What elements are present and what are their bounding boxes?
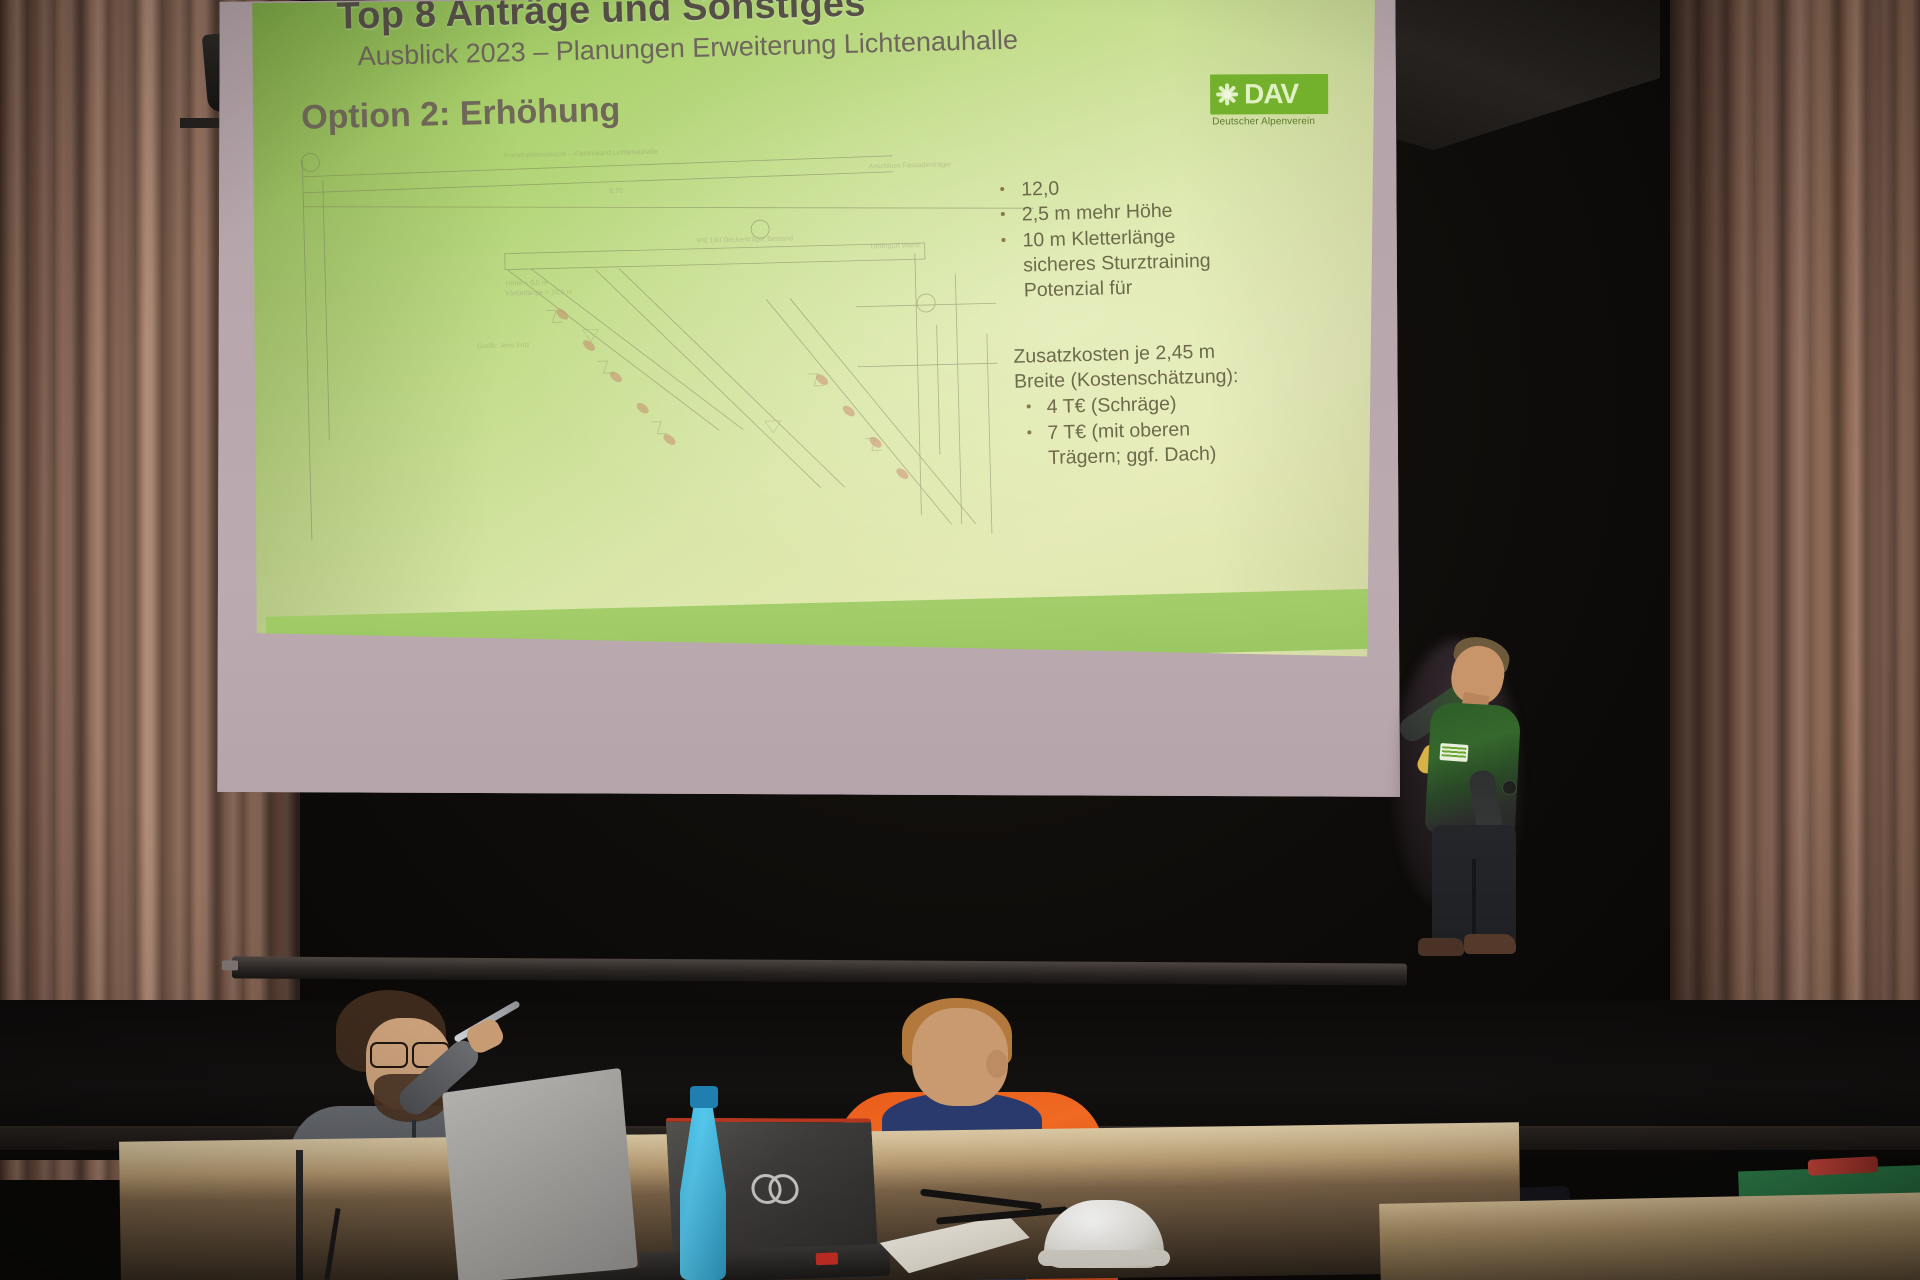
svg-text:Höhe = 9,0 m: Höhe = 9,0 m (505, 280, 548, 288)
bullet-continuation: Potenzial für (998, 273, 1249, 305)
side-table (1379, 1192, 1920, 1280)
svg-text:6,70: 6,70 (609, 188, 623, 195)
dav-logo-box: DAV (1210, 74, 1328, 115)
slide-bullet-block: 12,0 2,5 m mehr Höhe 10 m Kletterlänge s… (995, 172, 1252, 473)
presenter-shoe-left (1418, 938, 1464, 956)
presenter-club-badge (1439, 743, 1468, 762)
climbing-wall-section-drawing: Konstruktionsskizze – Kletterwand Lichte… (292, 122, 1063, 571)
presenter-sleeve-emblem (1502, 780, 1517, 795)
presenter-shoe-right (1464, 934, 1516, 954)
dav-subtext: Deutscher Alpenverein (1212, 116, 1315, 127)
edelweiss-icon (1215, 82, 1239, 106)
slide-bullet-list: 12,0 2,5 m mehr Höhe 10 m Kletterlänge (995, 172, 1247, 254)
svg-text:Anschluss Fassadenträger: Anschluss Fassadenträger (869, 161, 953, 170)
water-bottle-cap[interactable] (690, 1086, 718, 1108)
microphone-stand (296, 1150, 303, 1280)
photo-scene: Top 8 Anträge und Sonstiges Ausblick 202… (0, 0, 1920, 1280)
laptop-silver[interactable] (442, 1068, 638, 1280)
svg-text:Grafik: Jens Fritz: Grafik: Jens Fritz (477, 342, 531, 350)
fujitsu-logo-icon (751, 1174, 796, 1200)
svg-text:Konstruktionsskizze – Kletterw: Konstruktionsskizze – Kletterwand Lichte… (504, 149, 658, 160)
slide-option-heading: Option 2: Erhöhung (301, 91, 621, 138)
presenter-person (1380, 620, 1560, 950)
cables (920, 1188, 1070, 1230)
svg-text:Kletterlänge = 10,0 m: Kletterlänge = 10,0 m (506, 289, 573, 298)
seated-right-ear (986, 1050, 1008, 1078)
svg-text:Untergurt Wand: Untergurt Wand (871, 242, 920, 250)
svg-text:IPE 180 Deckenträger Bestand: IPE 180 Deckenträger Bestand (696, 235, 793, 244)
stage-curtain-right (1670, 0, 1920, 1130)
cost-item-list: 4 T€ (Schräge) 7 T€ (mit oberen Trägern;… (1000, 390, 1252, 472)
cost-estimate-block: Zusatzkosten je 2,45 m Breite (Kostensch… (999, 339, 1252, 473)
dav-logo: DAV Deutscher Alpenverein (1210, 74, 1330, 137)
presenter-trousers (1432, 825, 1516, 945)
cost-item-continuation: Trägern; ggf. Dach) (1002, 441, 1253, 473)
dav-wordmark: DAV (1244, 80, 1298, 108)
projected-slide: Top 8 Anträge und Sonstiges Ausblick 202… (250, 0, 1375, 677)
presenter-jacket (1425, 702, 1522, 837)
